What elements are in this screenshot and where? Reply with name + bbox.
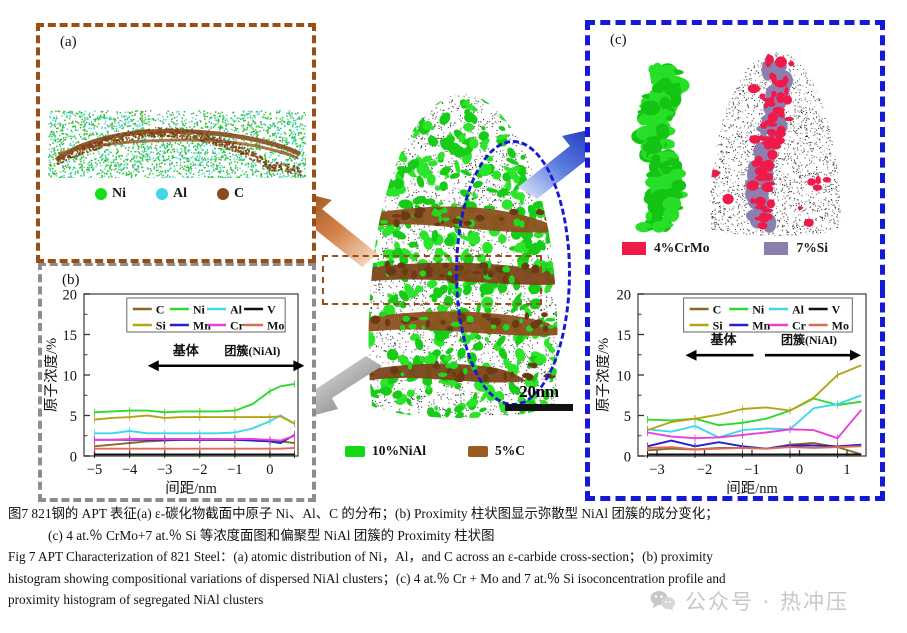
roi-blue-dashed-ellipse	[455, 140, 571, 406]
legend-label-c: C	[234, 186, 244, 202]
legend-label-si: 7%Si	[796, 240, 828, 256]
circle-marker-icon	[156, 188, 168, 200]
panel-c-nial-isosurface	[625, 60, 695, 235]
isosurface-swatch-icon	[622, 242, 646, 255]
panel-c-tip-reconstruction	[690, 48, 860, 238]
scalebar-label: 20nm	[505, 382, 573, 402]
isosurface-swatch-icon	[764, 242, 788, 255]
circle-marker-icon	[217, 188, 229, 200]
legend-label-crmo: 4%CrMo	[654, 240, 709, 256]
panel-c-tag: (c)	[610, 32, 627, 49]
legend-label-ni: Ni	[112, 186, 126, 202]
panel-a-tag: (a)	[60, 34, 77, 51]
caption-zh-line2: (c) 4 at.％ CrMo+7 at.％ Si 等浓度面图和偏聚型 NiAl…	[8, 525, 903, 547]
scalebar: 20nm	[505, 382, 573, 411]
panel-b-tag: (b)	[62, 272, 80, 289]
isosurface-swatch-icon	[345, 446, 365, 457]
legend-item-crmo: 4%CrMo	[622, 240, 709, 256]
center-legend: 10%NiAl 5%C	[345, 443, 575, 459]
legend-label-nial: 10%NiAl	[372, 443, 426, 459]
watermark: 公众号 · 热冲压	[650, 586, 849, 616]
watermark-text: 公众号 · 热冲压	[685, 586, 849, 616]
legend-item-carbon: 5%C	[468, 443, 525, 459]
legend-item-si: 7%Si	[764, 240, 828, 256]
legend-item-nial: 10%NiAl	[345, 443, 426, 459]
wechat-icon	[650, 590, 676, 612]
legend-item-ni: Ni	[95, 186, 126, 202]
proximity-histogram-b: 05101520−5−4−3−2−10间距/nm原子浓度/%CNiAlVSiMn…	[44, 288, 306, 496]
isosurface-swatch-icon	[468, 446, 488, 457]
figure-root: 20nm 10%NiAl 5%C (a) Ni Al C	[0, 0, 907, 633]
panel-a-atom-map	[48, 110, 306, 178]
caption-en-line1: Fig 7 APT Characterization of 821 Steel：…	[8, 546, 903, 567]
legend-label-carbon: 5%C	[495, 443, 525, 459]
legend-label-al: Al	[173, 186, 187, 202]
scalebar-line	[505, 404, 573, 411]
proximity-histogram-c: 05101520−3−2−101间距/nm原子浓度/%CNiAlVSiMnCrM…	[596, 288, 876, 496]
panel-c-legend: 4%CrMo 7%Si	[622, 240, 872, 256]
legend-item-c: C	[217, 186, 244, 202]
panel-a-legend: Ni Al C	[95, 186, 275, 202]
circle-marker-icon	[95, 188, 107, 200]
caption-zh-line1: 图7 821钢的 APT 表征(a) ε-碳化物截面中原子 Ni、Al、C 的分…	[8, 503, 903, 525]
legend-item-al: Al	[156, 186, 187, 202]
